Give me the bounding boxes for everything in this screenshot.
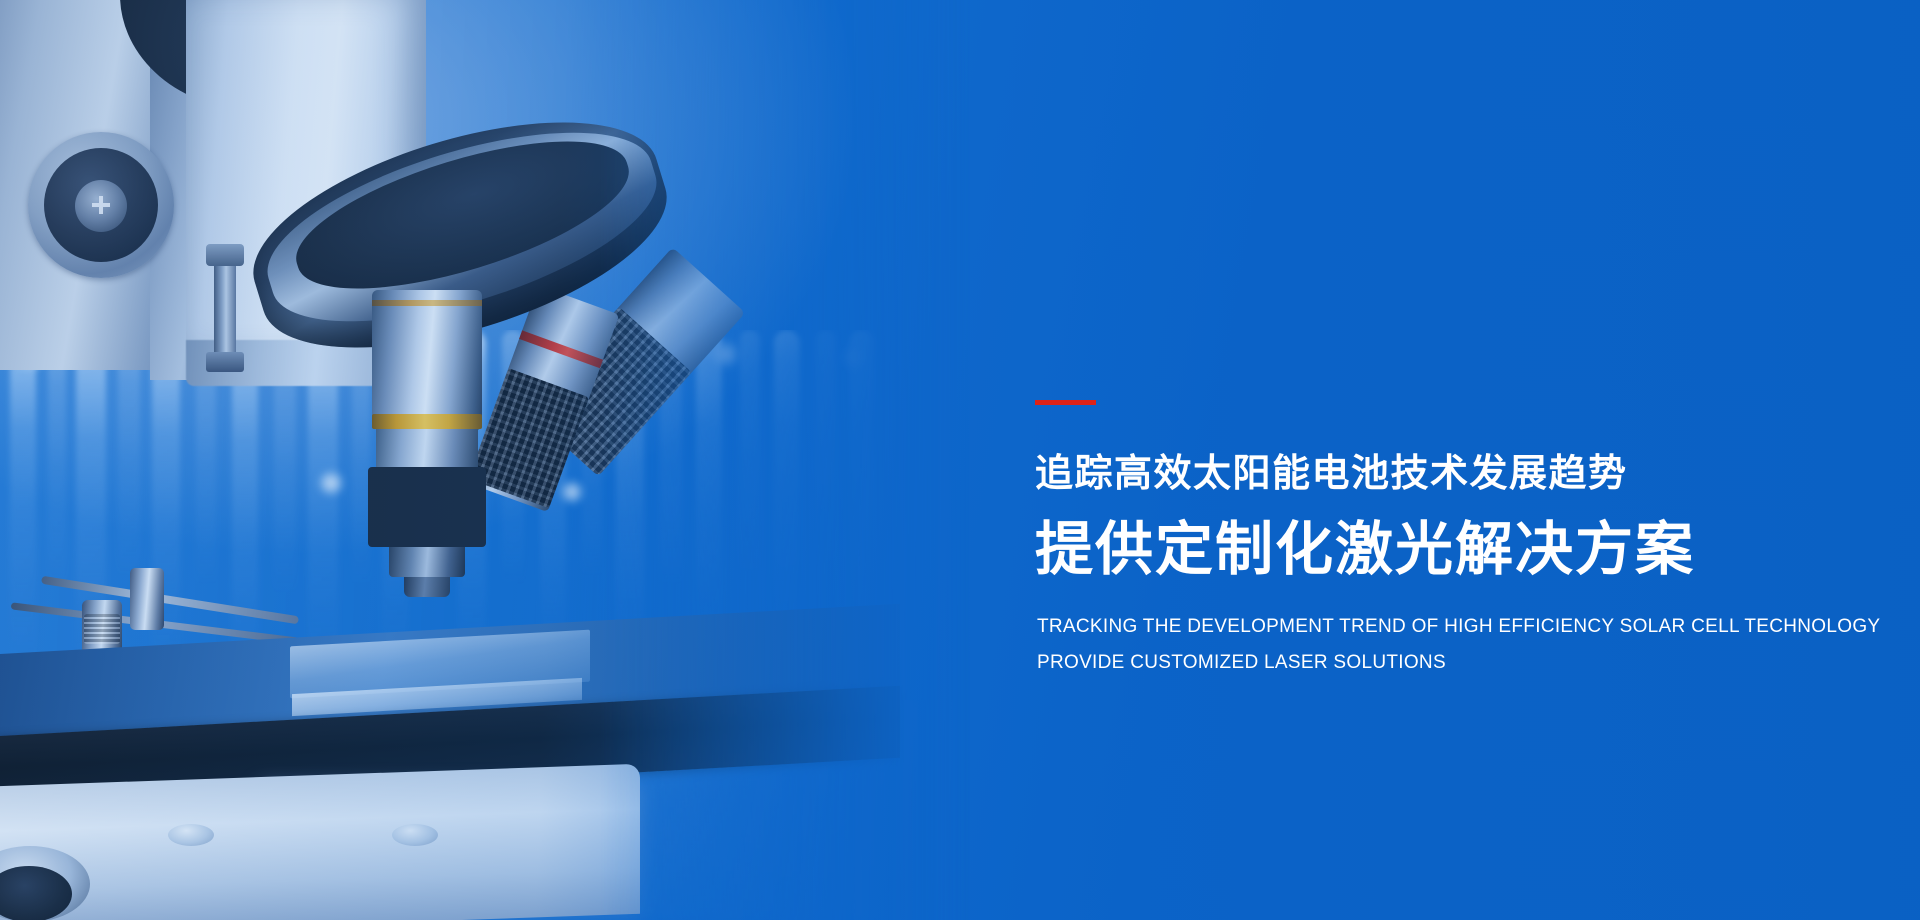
banner-subheadline: 追踪高效太阳能电池技术发展趋势 xyxy=(1035,454,1628,496)
banner-english-line-2: PROVIDE CUSTOMIZED LASER SOLUTIONS xyxy=(1037,651,1446,675)
banner-content: 追踪高效太阳能电池技术发展趋势 提供定制化激光解决方案 TRACKING THE… xyxy=(1035,0,1875,920)
banner-headline: 提供定制化激光解决方案 xyxy=(1035,518,1695,582)
accent-rule xyxy=(1035,400,1096,405)
hero-banner: 追踪高效太阳能电池技术发展趋势 提供定制化激光解决方案 TRACKING THE… xyxy=(0,0,1920,920)
banner-english-line-1: TRACKING THE DEVELOPMENT TREND OF HIGH E… xyxy=(1037,615,1880,639)
